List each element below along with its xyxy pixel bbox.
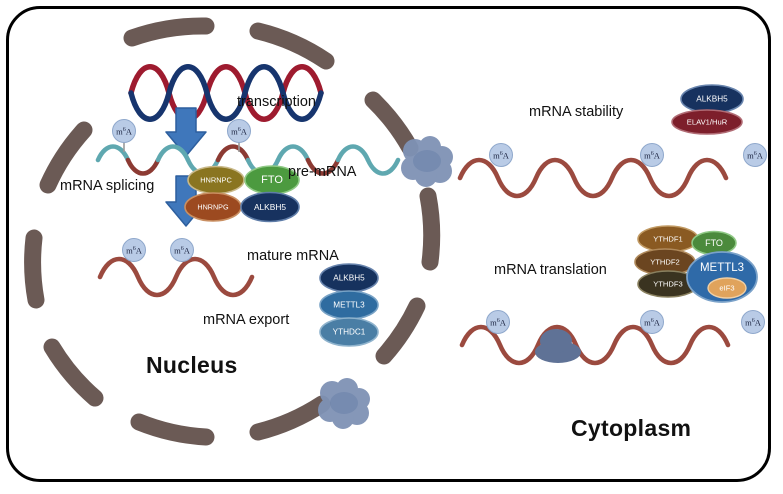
m6a-mark: m6A	[171, 239, 194, 263]
m6a-mark: m6A	[641, 144, 664, 167]
svg-text:HNRNPG: HNRNPG	[197, 203, 229, 212]
export-complex: ALKBH5 METTL3 YTHDC1	[320, 264, 378, 346]
m6a-mark: m6A	[123, 239, 146, 263]
svg-text:METTL3: METTL3	[700, 262, 744, 274]
envelope-segment	[373, 100, 410, 148]
label-pre-mrna: pre-mRNA	[288, 164, 356, 180]
svg-text:ELAV1/HuR: ELAV1/HuR	[687, 118, 728, 127]
envelope-segment	[258, 31, 326, 61]
m6a-mark: m6A	[490, 144, 513, 167]
envelope-segment	[139, 422, 206, 437]
envelope-segment	[132, 26, 206, 38]
envelope-segment	[384, 306, 417, 356]
translation-complex: YTHDF1 YTHDF2 YTHDF3 FTO METTL3 eIF3	[635, 226, 757, 302]
envelope-segment	[33, 238, 36, 300]
svg-text:YTHDF1: YTHDF1	[653, 235, 683, 244]
label-mrna-splicing: mRNA splicing	[60, 178, 154, 194]
svg-text:YTHDF2: YTHDF2	[650, 258, 680, 267]
label-mature-mrna: mature mRNA	[247, 248, 339, 264]
stability-complex: ALKBH5 ELAV1/HuR	[672, 85, 743, 134]
svg-text:FTO: FTO	[705, 238, 723, 248]
dna-double-helix	[131, 67, 321, 120]
label-mrna-stability: mRNA stability	[529, 104, 623, 120]
label-cytoplasm: Cytoplasm	[571, 415, 691, 442]
svg-text:YTHDF3: YTHDF3	[653, 280, 683, 289]
m6a-mark: m6A	[742, 311, 765, 334]
mature-mrna-strand	[100, 259, 252, 295]
envelope-segment	[52, 347, 95, 398]
m6a-mark: m6A	[487, 311, 510, 334]
svg-text:METTL3: METTL3	[333, 301, 365, 310]
svg-text:ALKBH5: ALKBH5	[254, 202, 286, 212]
envelope-segment	[428, 196, 432, 262]
splicing-complex: HNRNPC FTO HNRNPG ALKBH5	[185, 166, 299, 222]
nuclear-pore-icon	[401, 136, 453, 187]
nuclear-pore-icon	[318, 378, 370, 429]
svg-text:ALKBH5: ALKBH5	[696, 95, 728, 104]
label-mrna-export: mRNA export	[203, 312, 289, 328]
svg-text:HNRNPC: HNRNPC	[200, 176, 232, 185]
label-mrna-translation: mRNA translation	[494, 262, 607, 278]
m6a-mark: m6A	[744, 144, 767, 167]
envelope-segment	[48, 130, 84, 185]
svg-text:YTHDC1: YTHDC1	[333, 328, 366, 337]
envelope-segment	[258, 404, 322, 432]
figure-root: m6A m6A HNRNPC FTO HNRNPG ALKBH5	[0, 0, 783, 494]
svg-text:FTO: FTO	[261, 174, 283, 186]
svg-text:eIF3: eIF3	[719, 284, 734, 293]
svg-text:ALKBH5: ALKBH5	[333, 274, 365, 283]
m6a-mark: m6A	[641, 311, 664, 334]
label-nucleus: Nucleus	[146, 352, 238, 379]
label-transcription: transcription	[237, 94, 316, 110]
